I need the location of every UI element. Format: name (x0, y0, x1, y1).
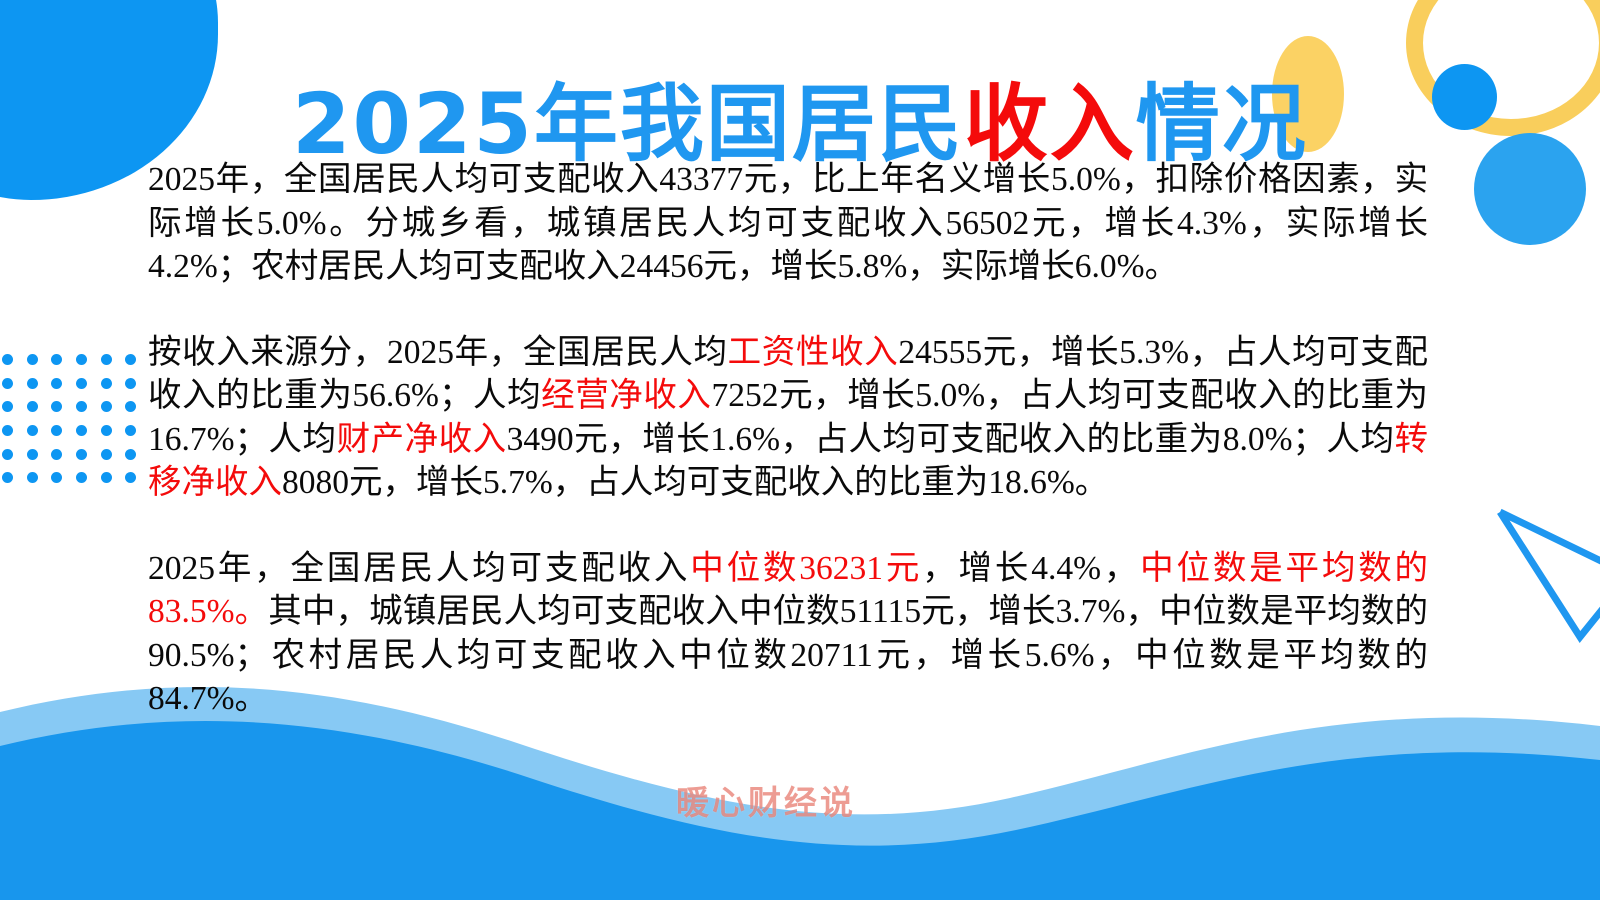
p3-text-c: 其中，城镇居民人均可支配收入中位数51115元，增长3.7%，中位数是平均数的9… (148, 593, 1428, 717)
p2-text-e: 8080元，增长5.7%，占人均可支配收入的比重为18.6%。 (282, 464, 1108, 501)
p3-text-a: 2025年，全国居民人均可支配收入 (148, 550, 690, 587)
p3-highlight-median-value: 中位数36231元 (690, 550, 922, 587)
article-body: 2025年，全国居民人均可支配收入43377元，比上年名义增长5.0%，扣除价格… (148, 158, 1428, 721)
watermark-label: 暖心财经说 (676, 776, 856, 824)
p2-highlight-wage-income: 工资性收入 (728, 334, 899, 371)
paragraph-3: 2025年，全国居民人均可支配收入中位数36231元，增长4.4%，中位数是平均… (148, 547, 1428, 721)
title-segment-3: 情况 (1136, 75, 1308, 173)
paragraph-2: 按收入来源分，2025年，全国居民人均工资性收入24555元，增长5.3%，占人… (148, 331, 1428, 505)
poster-canvas: 2025年我国居民收入情况 2025年，全国居民人均可支配收入43377元，比上… (0, 0, 1600, 900)
blue-triangle-outline-icon (1425, 470, 1600, 670)
p2-text-d: 3490元，增长1.6%，占人均可支配收入的比重为8.0%；人均 (507, 421, 1395, 458)
p3-text-b: ，增长4.4%， (922, 550, 1140, 587)
p2-highlight-business-net-income: 经营净收入 (541, 377, 711, 414)
blue-dot-grid-icon (2, 354, 150, 496)
page-title: 2025年我国居民收入情况 (0, 82, 1600, 166)
title-segment-2: 收入 (964, 75, 1136, 173)
p2-highlight-property-net-income: 财产净收入 (337, 421, 507, 458)
title-segment-1: 2025年我国居民 (292, 75, 964, 173)
p2-text-a: 按收入来源分，2025年，全国居民人均 (148, 334, 728, 371)
paragraph-1-text: 2025年，全国居民人均可支配收入43377元，比上年名义增长5.0%，扣除价格… (148, 161, 1428, 285)
paragraph-1: 2025年，全国居民人均可支配收入43377元，比上年名义增长5.0%，扣除价格… (148, 158, 1428, 289)
